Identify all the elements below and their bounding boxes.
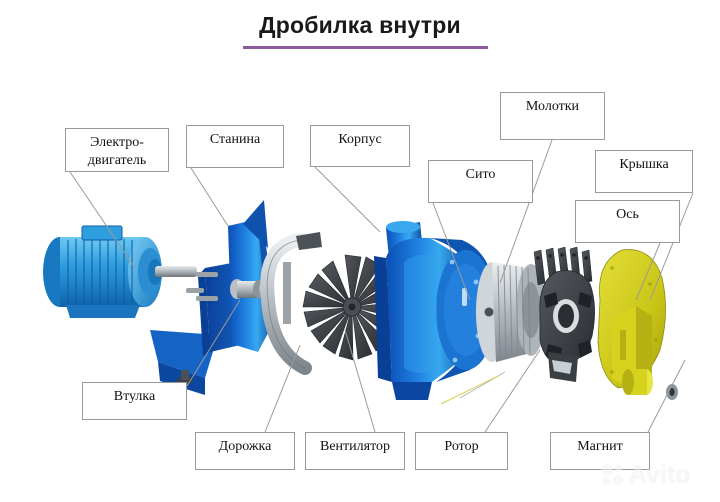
avito-watermark: Avito [600,462,691,488]
callout-label-hammers[interactable]: Молотки [500,92,605,140]
callout-label-housing[interactable]: Корпус [310,125,410,167]
callout-label-text: Магнит [577,438,623,456]
callout-label-text: Электро- [90,134,144,152]
callout-label-sieve[interactable]: Сито [428,160,533,203]
diagram-page: Дробилка внутри [0,0,720,502]
callout-label-text: Втулка [114,388,155,406]
callout-label-track[interactable]: Дорожка [195,432,295,470]
callout-label-rotor[interactable]: Ротор [415,432,508,470]
callout-label-cover[interactable]: Крышка [595,150,693,193]
avito-logo-icon [600,462,626,488]
callout-label-text: Крышка [619,156,668,174]
callout-label-text: Станина [210,131,260,149]
callout-label-frame[interactable]: Станина [186,125,284,168]
callout-label-text: Ротор [444,438,478,456]
callout-labels: Электро-двигательСтанинаКорпусМолоткиСит… [0,0,720,502]
avito-watermark-text: Avito [629,463,691,488]
callout-label-text: Дорожка [219,438,272,456]
callout-label-text: Вентилятор [320,438,390,456]
callout-label-electric-motor[interactable]: Электро-двигатель [65,128,169,172]
callout-label-fan[interactable]: Вентилятор [305,432,405,470]
callout-label-text: Сито [466,166,496,184]
callout-label-bushing[interactable]: Втулка [82,382,187,420]
callout-label-text: Корпус [338,131,381,149]
callout-label-text: Молотки [526,98,579,116]
callout-label-axle[interactable]: Ось [575,200,680,243]
callout-label-text-line2: двигатель [88,152,147,170]
callout-label-text: Ось [616,206,639,224]
